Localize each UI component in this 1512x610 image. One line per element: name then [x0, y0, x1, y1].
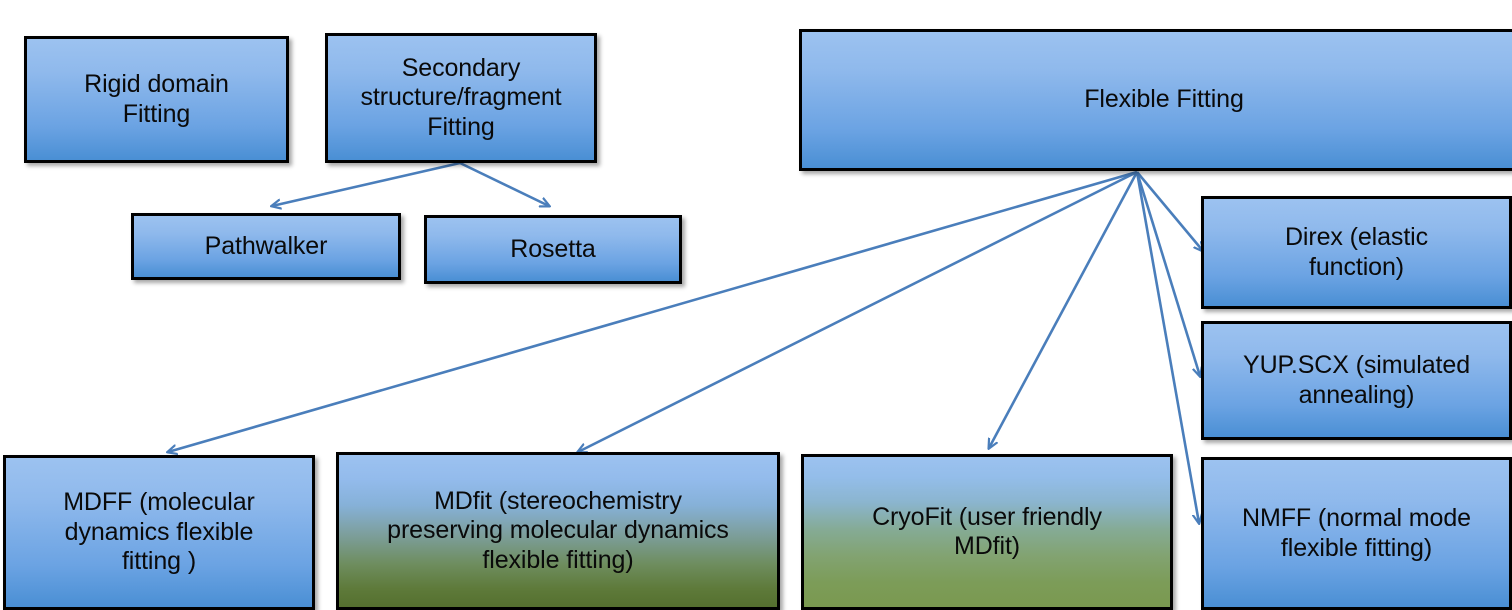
node-label: CryoFit (user friendly MDfit) — [812, 503, 1162, 562]
node-yup-scx[interactable]: YUP.SCX (simulated annealing) — [1201, 321, 1512, 440]
node-rosetta[interactable]: Rosetta — [424, 215, 682, 284]
edge-flexible-to-cryofit — [989, 172, 1137, 448]
node-label: YUP.SCX (simulated annealing) — [1212, 351, 1501, 410]
node-flexible-fitting[interactable]: Flexible Fitting — [799, 29, 1512, 171]
edge-secondary-to-pathwalker — [272, 163, 460, 206]
node-label: MDfit (stereochemistry preserving molecu… — [347, 487, 769, 576]
diagram-canvas: Rigid domain Fitting Secondary structure… — [0, 0, 1512, 610]
node-label: Rigid domain Fitting — [35, 70, 278, 129]
node-label: Pathwalker — [142, 232, 390, 262]
edge-secondary-to-rosetta — [460, 163, 549, 206]
node-mdff[interactable]: MDFF (molecular dynamics flexible fittin… — [3, 455, 315, 610]
node-label: NMFF (normal mode flexible fitting) — [1212, 504, 1501, 563]
node-secondary-structure-fitting[interactable]: Secondary structure/fragment Fitting — [325, 33, 597, 163]
edge-flexible-to-direx — [1137, 172, 1203, 251]
node-label: Rosetta — [435, 235, 671, 265]
node-label: MDFF (molecular dynamics flexible fittin… — [14, 488, 304, 577]
node-label: Direx (elastic function) — [1212, 223, 1501, 282]
node-mdfit[interactable]: MDfit (stereochemistry preserving molecu… — [336, 452, 780, 610]
node-rigid-domain-fitting[interactable]: Rigid domain Fitting — [24, 36, 289, 163]
node-direx[interactable]: Direx (elastic function) — [1201, 196, 1512, 309]
edge-flexible-to-yupscx — [1137, 172, 1200, 376]
node-cryofit[interactable]: CryoFit (user friendly MDfit) — [801, 454, 1173, 610]
node-label: Flexible Fitting — [810, 85, 1512, 115]
node-pathwalker[interactable]: Pathwalker — [131, 213, 401, 280]
node-nmff[interactable]: NMFF (normal mode flexible fitting) — [1201, 457, 1512, 610]
node-label: Secondary structure/fragment Fitting — [336, 54, 586, 143]
edge-flexible-to-mdfit — [578, 172, 1137, 452]
